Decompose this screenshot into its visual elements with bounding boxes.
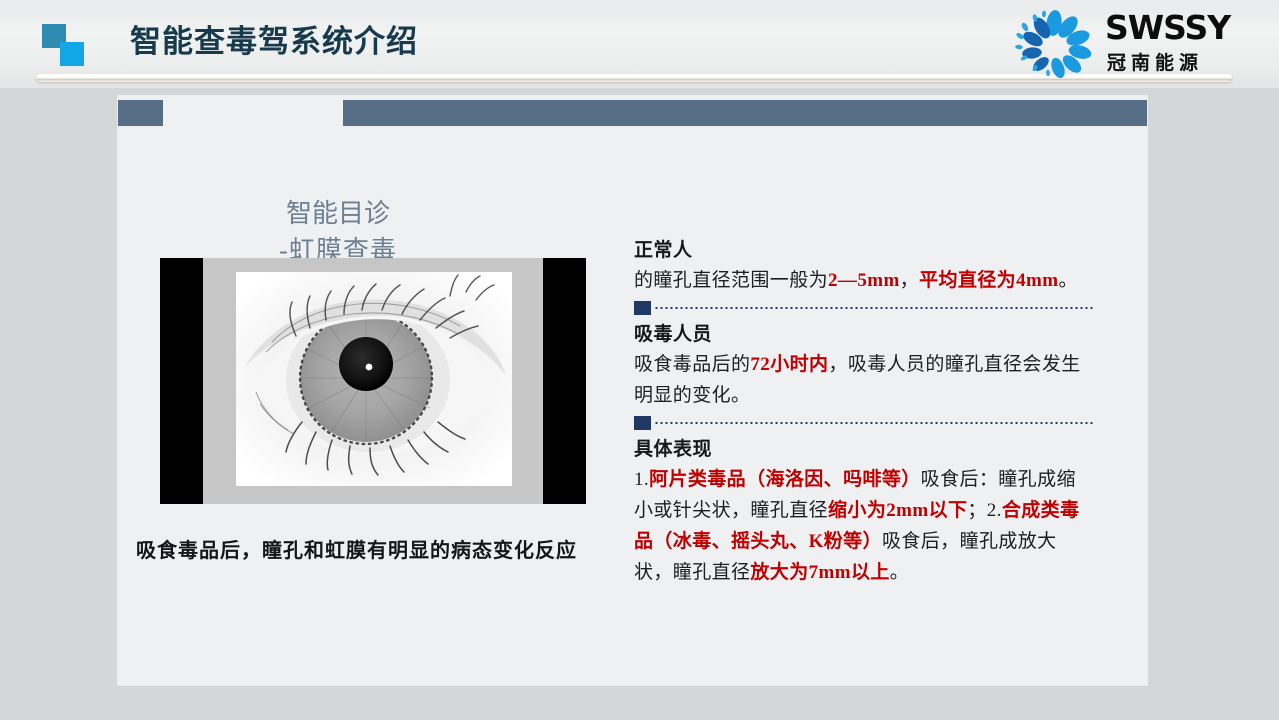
- eye-illustration-icon: [236, 272, 512, 486]
- section-separator: [634, 298, 1094, 320]
- section-normal-person: 正常人 的瞳孔直径范围一般为2—5mm，平均直径为4mm。: [634, 238, 1094, 296]
- iris-eye-figure: [160, 258, 586, 504]
- separator-dotted-line: [654, 307, 1094, 309]
- company-logo: SWSSY 冠南能源: [1011, 8, 1261, 80]
- section-body: 的瞳孔直径范围一般为2—5mm，平均直径为4mm。: [634, 265, 1094, 296]
- section-manifestations: 具体表现 1.阿片类毒品（海洛因、吗啡等）吸食后：瞳孔成缩小或针尖状，瞳孔直径缩…: [634, 437, 1094, 588]
- run-text: 的瞳孔直径范围一般为: [634, 270, 828, 291]
- run-text-highlight: 放大为7mm以上: [750, 562, 889, 583]
- run-text: ；: [967, 500, 986, 521]
- decor-square-bright-icon: [60, 42, 84, 66]
- separator-square-icon: [634, 416, 651, 430]
- run-text: 2.: [987, 500, 1002, 521]
- run-text-highlight: 2—5mm: [828, 270, 900, 291]
- header-decor-squares: [42, 24, 100, 70]
- header-title: 智能查毒驾系统介绍: [130, 16, 418, 61]
- slide-content-panel: 智能目诊 -虹膜查毒: [118, 96, 1147, 685]
- section-drug-user: 吸毒人员 吸食毒品后的72小时内，吸毒人员的瞳孔直径会发生明显的变化。: [634, 322, 1094, 411]
- section-body: 吸食毒品后的72小时内，吸毒人员的瞳孔直径会发生明显的变化。: [634, 349, 1094, 411]
- section-body: 1.阿片类毒品（海洛因、吗啡等）吸食后：瞳孔成缩小或针尖状，瞳孔直径缩小为2mm…: [634, 464, 1094, 588]
- title-banner-left: [118, 100, 163, 126]
- section-heading: 具体表现: [634, 437, 1094, 462]
- presentation-slide: 智能查毒驾系统介绍: [0, 0, 1279, 720]
- run-text-highlight: 阿片类毒品（海洛因、吗啡等）: [649, 469, 921, 490]
- run-text: 。: [1058, 270, 1077, 291]
- run-text: 吸食毒品后的: [634, 354, 750, 375]
- run-text: 。: [890, 562, 909, 583]
- petal-flower-logo-icon: [1011, 10, 1097, 78]
- figure-caption: 吸食毒品后，瞳孔和虹膜有明显的病态变化反应: [136, 534, 636, 563]
- run-text-highlight: 72小时内: [750, 354, 828, 375]
- separator-dotted-line: [654, 422, 1094, 424]
- run-text-highlight: 平均直径为4mm: [919, 270, 1058, 291]
- run-text-highlight: 缩小为2mm以下: [828, 500, 967, 521]
- title-banner-right: [343, 100, 1147, 126]
- logo-subtitle: 冠南能源: [1107, 48, 1203, 75]
- section-heading: 吸毒人员: [634, 322, 1094, 347]
- section-heading: 正常人: [634, 238, 1094, 263]
- slide-title-line1: 智能目诊: [286, 199, 390, 228]
- slide-header: 智能查毒驾系统介绍: [0, 0, 1279, 88]
- logo-wordmark: SWSSY: [1105, 10, 1230, 46]
- separator-square-icon: [634, 301, 651, 315]
- text-column: 正常人 的瞳孔直径范围一般为2—5mm，平均直径为4mm。 吸毒人员 吸食毒品后…: [634, 238, 1094, 588]
- run-text: ，: [900, 270, 919, 291]
- run-text: 1.: [634, 469, 649, 490]
- section-separator: [634, 413, 1094, 435]
- figure-photo: [236, 272, 512, 486]
